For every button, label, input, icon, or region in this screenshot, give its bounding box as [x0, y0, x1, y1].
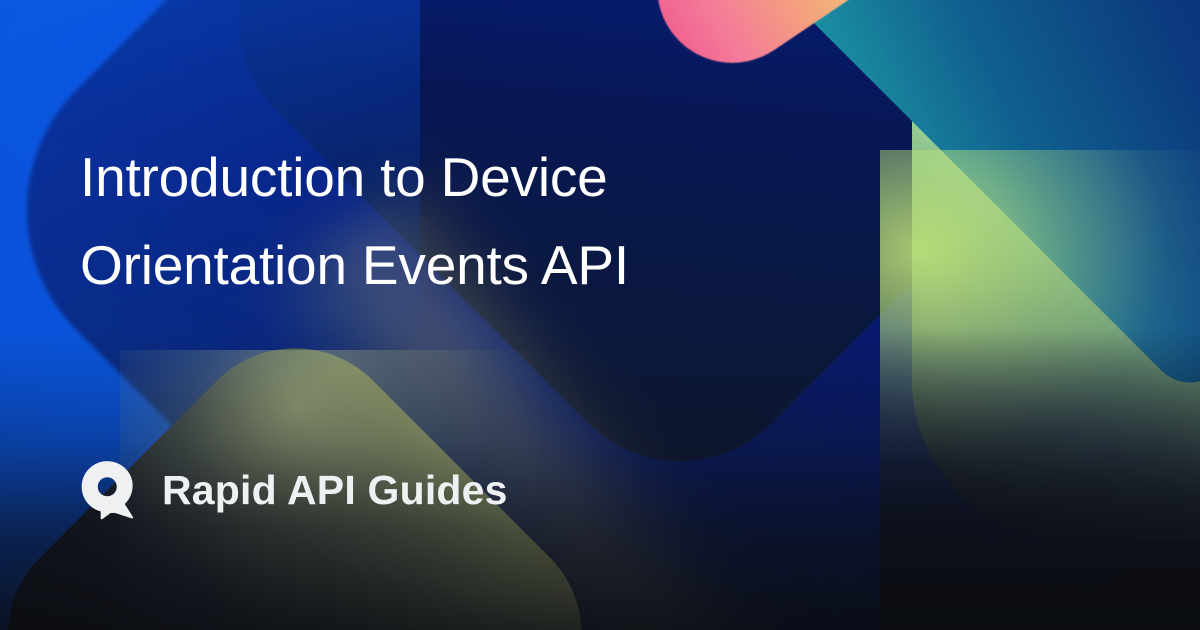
social-share-card: Introduction to Device Orientation Event… [0, 0, 1200, 630]
card-content: Introduction to Device Orientation Event… [0, 0, 1200, 630]
brand-lockup: Rapid API Guides [78, 459, 508, 521]
brand-name-label: Rapid API Guides [162, 467, 508, 514]
rapidapi-logo-icon [78, 459, 140, 521]
page-title: Introduction to Device Orientation Event… [80, 133, 840, 309]
